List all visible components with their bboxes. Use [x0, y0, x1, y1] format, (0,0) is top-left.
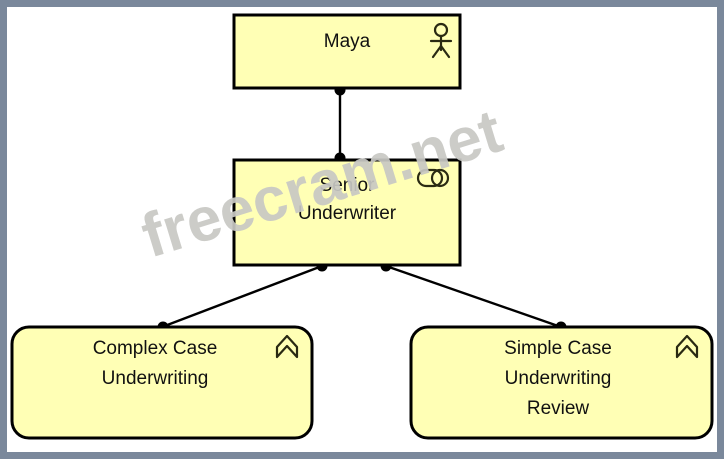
- node-simple-case-underwriting-review-label-line-2: Underwriting: [505, 368, 612, 389]
- node-simple-case-underwriting-review-label-line-3: Review: [527, 398, 590, 419]
- node-senior-underwriter[interactable]: Senior Underwriter: [234, 160, 460, 265]
- node-complex-case-underwriting-label-line-1: Complex Case: [93, 338, 218, 359]
- node-maya-label-line-1: Maya: [324, 31, 371, 52]
- node-simple-case-underwriting-review-label-line-1: Simple Case: [504, 338, 612, 359]
- node-complex-case-underwriting-label-line-2: Underwriting: [102, 368, 209, 389]
- node-simple-case-underwriting-review[interactable]: Simple Case Underwriting Review: [411, 327, 712, 438]
- diagram-canvas: freecram.net Maya Senior Underwriter: [0, 0, 724, 459]
- node-senior-underwriter-label-line-1: Senior: [320, 175, 376, 196]
- node-complex-case-underwriting[interactable]: Complex Case Underwriting: [12, 327, 312, 438]
- node-maya[interactable]: Maya: [234, 15, 460, 88]
- node-layer: Maya Senior Underwriter Complex: [0, 0, 724, 459]
- node-senior-underwriter-label-line-2: Underwriter: [298, 203, 397, 224]
